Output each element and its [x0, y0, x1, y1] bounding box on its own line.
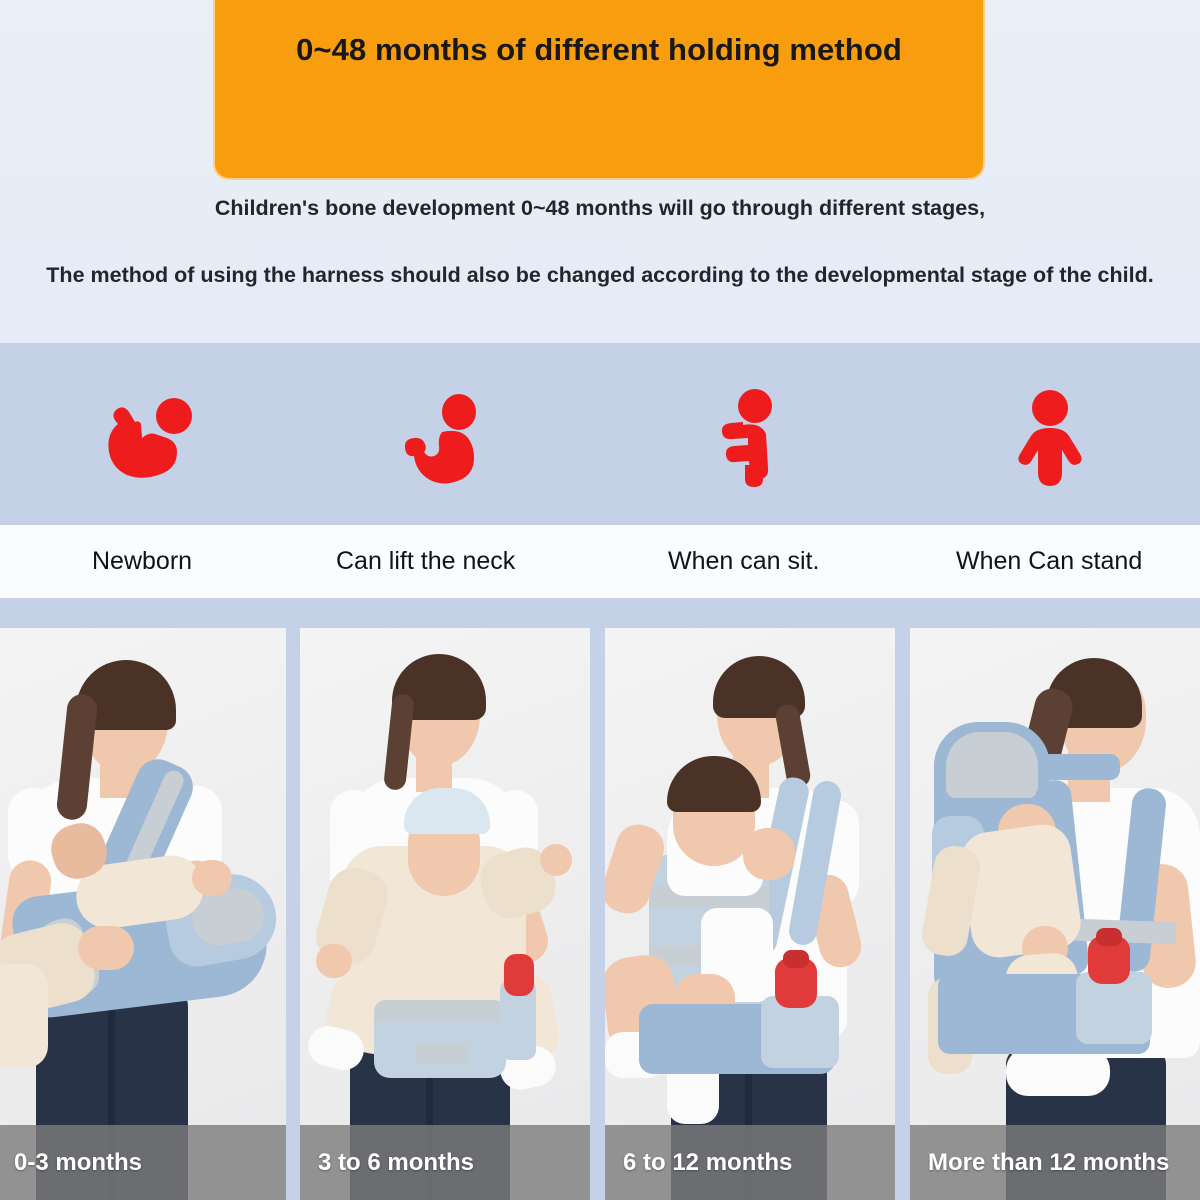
photo-caption-6-12-months: 6 to 12 months — [605, 1149, 792, 1177]
stage-label-band: Newborn Can lift the neck When can sit. … — [0, 525, 1200, 598]
intro-line-1: Children's bone development 0~48 months … — [0, 196, 1200, 221]
stage-icon-cell-sit — [600, 343, 900, 525]
stage-label-stand: When Can stand — [900, 525, 1200, 598]
page-title: 0~48 months of different holding method — [215, 32, 983, 68]
baby-lying-icon — [0, 393, 300, 483]
infographic-page: 0~48 months of different holding method … — [0, 0, 1200, 1200]
photo-image-0-3-months — [0, 628, 286, 1200]
baby-sitting-icon — [600, 393, 900, 483]
stage-icon-cell-lift-neck — [300, 343, 600, 525]
photo-panel-6-12-months: 6 to 12 months — [605, 628, 895, 1200]
photo-strip: 0-3 months — [0, 598, 1200, 1200]
stage-icon-cell-stand — [900, 343, 1200, 525]
photo-caption-bar-3-6-months: 3 to 6 months — [300, 1125, 590, 1200]
photo-caption-bar-6-12-months: 6 to 12 months — [605, 1125, 895, 1200]
headline-banner: 0~48 months of different holding method — [213, 0, 985, 180]
photo-image-6-12-months — [605, 628, 895, 1200]
photo-panel-12-plus-months: More than 12 months — [910, 628, 1200, 1200]
photo-caption-bar-12-plus-months: More than 12 months — [910, 1125, 1200, 1200]
photo-image-12-plus-months — [910, 628, 1200, 1200]
intro-line-2: The method of using the harness should a… — [0, 263, 1200, 288]
stage-label-lift-neck: Can lift the neck — [300, 525, 636, 598]
photo-image-3-6-months — [300, 628, 590, 1200]
stage-icon-band — [0, 343, 1200, 525]
photo-caption-3-6-months: 3 to 6 months — [300, 1149, 474, 1177]
photo-panel-3-6-months: 3 to 6 months — [300, 628, 590, 1200]
photo-caption-0-3-months: 0-3 months — [0, 1149, 142, 1177]
stage-icon-cell-newborn — [0, 343, 300, 525]
photo-panel-0-3-months: 0-3 months — [0, 628, 286, 1200]
intro-section: 0~48 months of different holding method … — [0, 0, 1200, 343]
baby-standing-icon — [900, 393, 1200, 483]
baby-lifting-neck-icon — [300, 393, 600, 483]
photo-caption-12-plus-months: More than 12 months — [910, 1149, 1169, 1177]
photo-caption-bar-0-3-months: 0-3 months — [0, 1125, 286, 1200]
